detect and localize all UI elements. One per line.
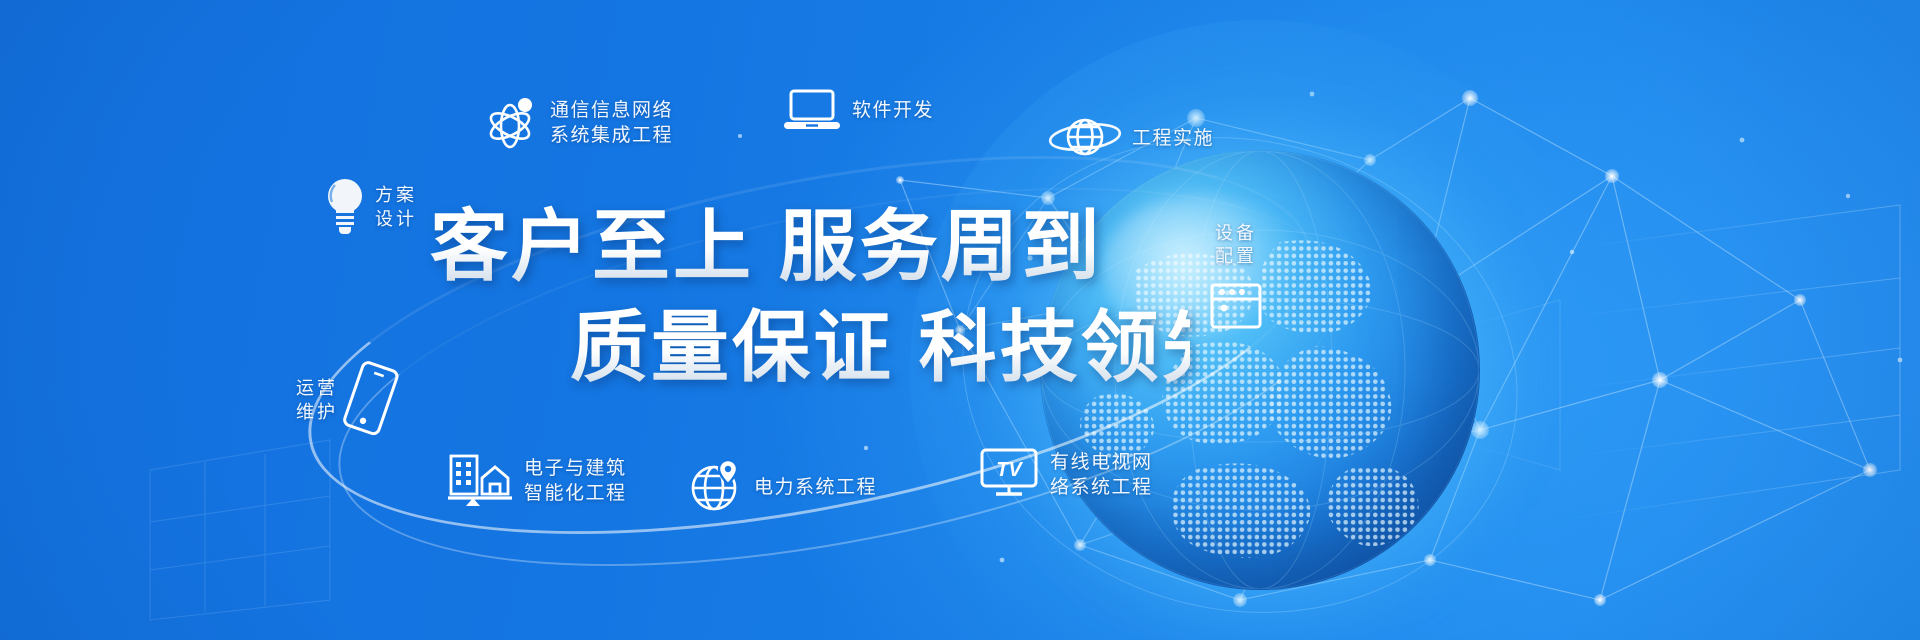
orbiting-globe-icon [1048,112,1122,167]
feature-label: 软件开发 [852,99,934,124]
headline-block: 客户至上 服务周到 质量保证 科技领先 [430,196,1190,399]
tv-icon: TV [978,446,1040,505]
feature-power[interactable]: 电力系统工程 [688,458,877,519]
feature-label: 工程实施 [1132,127,1214,152]
feature-label: 通信信息网络 系统集成工程 [550,99,673,148]
lightbulb-icon [325,176,365,239]
atom-icon [482,92,540,155]
feature-label: 电力系统工程 [754,476,877,501]
server-window-icon [1208,277,1264,338]
feature-network[interactable]: 通信信息网络 系统集成工程 [482,92,673,155]
globe-pin-icon [688,458,744,519]
building-house-icon [446,450,514,513]
headline-line-1: 客户至上 服务周到 [430,196,1190,297]
feature-label: 设备 配置 [1215,222,1257,269]
feature-label: 方案 设计 [375,184,417,231]
banner-hero: 客户至上 服务周到 质量保证 科技领先 通信信息网络 系统集成工程 软件开发 [0,0,1920,640]
feature-operations[interactable]: 运营 维护 [296,362,392,439]
feature-tv[interactable]: TV 有线电视网 络系统工程 [978,446,1153,505]
feature-equipment[interactable]: 设备 配置 [1208,222,1264,338]
feature-implementation[interactable]: 工程实施 [1048,112,1214,167]
feature-label: 运营 维护 [296,377,338,424]
feature-building[interactable]: 电子与建筑 智能化工程 [446,450,627,513]
feature-software[interactable]: 软件开发 [782,86,934,137]
feature-label: 电子与建筑 智能化工程 [524,457,627,506]
feature-design[interactable]: 方案 设计 [325,176,417,239]
headline-line-2: 质量保证 科技领先 [570,297,1190,398]
feature-label: 有线电视网 络系统工程 [1050,451,1153,500]
laptop-icon [782,86,842,137]
svg-text:TV: TV [996,459,1023,481]
